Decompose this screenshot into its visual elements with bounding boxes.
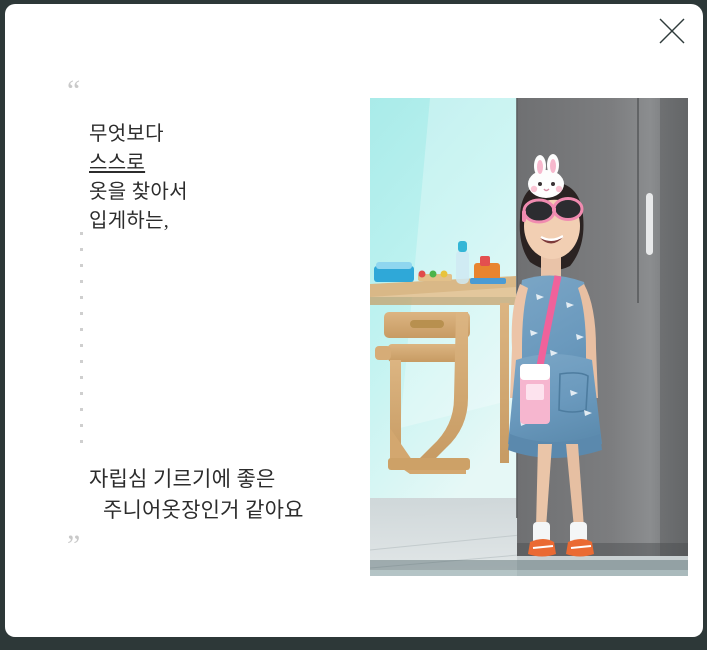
divider-dot	[80, 360, 83, 363]
caption-line: 자립심 기르기에 좋은	[89, 464, 349, 495]
divider-dot	[80, 280, 83, 283]
divider-dot	[80, 392, 83, 395]
divider-dot	[80, 424, 83, 427]
quote-line: 입게하는,	[89, 207, 311, 236]
quote-line: 옷을 찾아서	[89, 178, 311, 207]
quote-text-block: 무엇보다 스스로 옷을 찾아서 입게하는,	[89, 120, 311, 236]
quote-line: 무엇보다	[89, 120, 311, 149]
divider-dot	[80, 296, 83, 299]
divider-dot	[80, 264, 83, 267]
divider-dot	[80, 312, 83, 315]
divider-dot	[80, 248, 83, 251]
divider-dot	[80, 376, 83, 379]
dotted-divider	[80, 232, 84, 448]
modal-content: “ 무엇보다 스스로 옷을 찾아서 입게하는,	[5, 4, 703, 637]
quote-close-mark: ”	[67, 531, 81, 561]
modal-overlay-frame: “ 무엇보다 스스로 옷을 찾아서 입게하는,	[0, 0, 707, 650]
quote-line-emphasis: 스스로	[89, 149, 311, 178]
caption-line: 주니어옷장인거 같아요	[89, 495, 349, 526]
divider-dot	[80, 328, 83, 331]
review-photo-image	[370, 98, 688, 576]
quote-open-mark: “	[67, 76, 311, 106]
caption-text-block: 자립심 기르기에 좋은 주니어옷장인거 같아요	[89, 464, 349, 526]
review-modal-panel: “ 무엇보다 스스로 옷을 찾아서 입게하는,	[5, 4, 703, 637]
review-photo	[370, 98, 688, 576]
divider-dot	[80, 408, 83, 411]
divider-dot	[80, 344, 83, 347]
quote-column: “ 무엇보다 스스로 옷을 찾아서 입게하는,	[61, 76, 311, 236]
divider-dot	[80, 440, 83, 443]
divider-dot	[80, 232, 83, 235]
